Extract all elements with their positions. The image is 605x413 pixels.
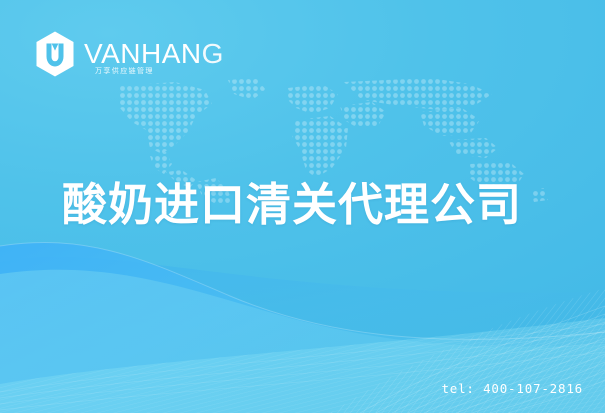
vanhang-wordmark: VANHANG 万享供应链管理 <box>84 31 224 77</box>
contact-phone[interactable]: tel: 400-107-2816 <box>441 381 583 396</box>
promo-banner: VANHANG 万享供应链管理 酸奶进口清关代理公司 tel: 400-107-… <box>0 0 605 413</box>
logo-word-main: VANHAN <box>84 38 202 69</box>
page-title: 酸奶进口清关代理公司 <box>62 181 562 228</box>
logo-word-tail: G <box>202 38 224 69</box>
vanhang-logo[interactable]: VANHANG 万享供应链管理 <box>33 29 224 79</box>
logo-word: VANHANG <box>84 40 224 68</box>
vanhang-hexagon-logo-icon <box>33 30 77 78</box>
logo-subtitle: 万享供应链管理 <box>95 68 154 75</box>
